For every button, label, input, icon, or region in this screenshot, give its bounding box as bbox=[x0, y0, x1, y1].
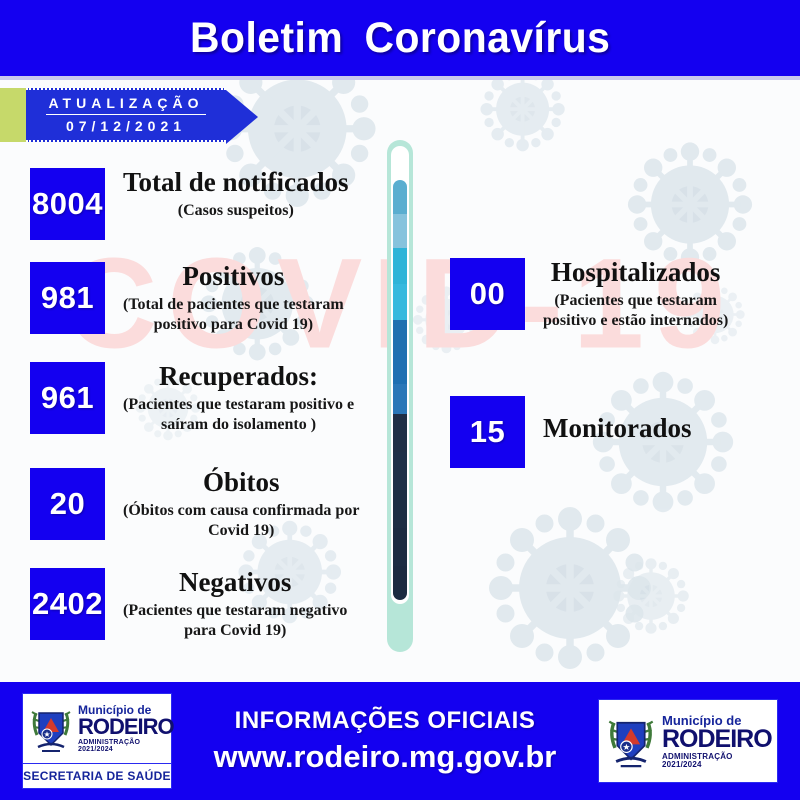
right-stat-text: Hospitalizados(Pacientes que testarampos… bbox=[525, 258, 728, 331]
logo-right-admin: ADMINISTRAÇÃO 2021/2024 bbox=[662, 753, 772, 769]
header-underline bbox=[0, 76, 800, 80]
right-stat-0: 00Hospitalizados(Pacientes que testaramp… bbox=[450, 258, 790, 331]
left-stat-subtitle: (Total de pacientes que testarampositivo… bbox=[123, 295, 344, 335]
right-stat-text: Monitorados bbox=[525, 396, 692, 444]
left-stat-1: 981Positivos(Total de pacientes que test… bbox=[30, 262, 400, 335]
left-stat-subtitle: (Pacientes que testaram positivo esaíram… bbox=[123, 395, 354, 435]
logo-left-rodeiro: RODEIRO bbox=[78, 716, 174, 738]
left-stat-value-box: 961 bbox=[30, 362, 105, 434]
left-stat-value-box: 2402 bbox=[30, 568, 105, 640]
left-stat-text: Total de notificados(Casos suspeitos) bbox=[105, 168, 349, 221]
footer-website-url[interactable]: www.rodeiro.mg.gov.br bbox=[172, 739, 598, 775]
logo-left-top: Município de RODEIRO ADMINISTRAÇÃO 2021/… bbox=[23, 694, 171, 763]
left-stat-0: 8004Total de notificados(Casos suspeitos… bbox=[30, 168, 400, 240]
update-date: 07/12/2021 bbox=[64, 115, 188, 137]
right-stat-title: Hospitalizados bbox=[543, 258, 728, 288]
right-stat-subtitle: (Pacientes que testarampositivo e estão … bbox=[543, 291, 728, 331]
update-accent-bar bbox=[0, 88, 26, 142]
left-stat-text: Positivos(Total de pacientes que testara… bbox=[105, 262, 344, 335]
left-stat-value-box: 981 bbox=[30, 262, 105, 334]
logo-left-secretaria: SECRETARIA DE SAÚDE bbox=[23, 763, 171, 788]
logo-left-admin: ADMINISTRAÇÃO 2021/2024 bbox=[78, 739, 174, 753]
left-stat-title: Recuperados: bbox=[123, 362, 354, 392]
left-stat-title: Negativos bbox=[123, 568, 347, 598]
left-stat-2: 961Recuperados:(Pacientes que testaram p… bbox=[30, 362, 400, 435]
rodeiro-coat-of-arms-icon bbox=[604, 709, 658, 773]
right-stat-1: 15Monitorados bbox=[450, 396, 790, 468]
logo-secretaria-saude: Município de RODEIRO ADMINISTRAÇÃO 2021/… bbox=[22, 693, 172, 789]
right-stat-value-box: 00 bbox=[450, 258, 525, 330]
logo-municipio-rodeiro: Município de RODEIRO ADMINISTRAÇÃO 2021/… bbox=[598, 699, 778, 783]
right-stat-value-box: 15 bbox=[450, 396, 525, 468]
left-stat-text: Óbitos(Óbitos com causa confirmada porCo… bbox=[105, 468, 359, 541]
poster-footer: Município de RODEIRO ADMINISTRAÇÃO 2021/… bbox=[0, 682, 800, 800]
left-stat-title: Óbitos bbox=[123, 468, 359, 498]
update-banner: ATUALIZAÇÃO 07/12/2021 bbox=[0, 88, 226, 142]
update-arrow-shape: ATUALIZAÇÃO 07/12/2021 bbox=[26, 88, 226, 142]
left-stat-4: 2402Negativos(Pacientes que testaram neg… bbox=[30, 568, 400, 641]
left-stat-value-box: 8004 bbox=[30, 168, 105, 240]
footer-center-text: INFORMAÇÕES OFICIAIS www.rodeiro.mg.gov.… bbox=[172, 707, 598, 775]
logo-right-wordmark: Município de RODEIRO ADMINISTRAÇÃO 2021/… bbox=[658, 714, 772, 769]
left-stat-subtitle: (Casos suspeitos) bbox=[123, 201, 349, 221]
left-stat-title: Positivos bbox=[123, 262, 344, 292]
logo-right-rodeiro: RODEIRO bbox=[662, 727, 772, 752]
update-label: ATUALIZAÇÃO bbox=[46, 94, 205, 115]
right-stat-title: Monitorados bbox=[543, 414, 692, 444]
left-stat-text: Recuperados:(Pacientes que testaram posi… bbox=[105, 362, 354, 435]
logo-right-top: Município de RODEIRO ADMINISTRAÇÃO 2021/… bbox=[599, 706, 777, 776]
left-stat-subtitle: (Pacientes que testaram negativopara Cov… bbox=[123, 601, 347, 641]
left-stat-subtitle: (Óbitos com causa confirmada porCovid 19… bbox=[123, 501, 359, 541]
logo-left-wordmark: Município de RODEIRO ADMINISTRAÇÃO 2021/… bbox=[74, 704, 174, 753]
rodeiro-coat-of-arms-icon bbox=[28, 701, 74, 757]
left-stat-value-box: 20 bbox=[30, 468, 105, 540]
page-title: Boletim Coronavírus bbox=[190, 14, 610, 63]
footer-official-info: INFORMAÇÕES OFICIAIS bbox=[172, 707, 598, 735]
left-stat-text: Negativos(Pacientes que testaram negativ… bbox=[105, 568, 347, 641]
poster-header: Boletim Coronavírus bbox=[0, 0, 800, 76]
left-stat-3: 20Óbitos(Óbitos com causa confirmada por… bbox=[30, 468, 400, 541]
covid-bulletin-poster: COVID-19 Boletim Coronavírus ATUALIZAÇÃO… bbox=[0, 0, 800, 800]
left-stat-title: Total de notificados bbox=[123, 168, 349, 198]
